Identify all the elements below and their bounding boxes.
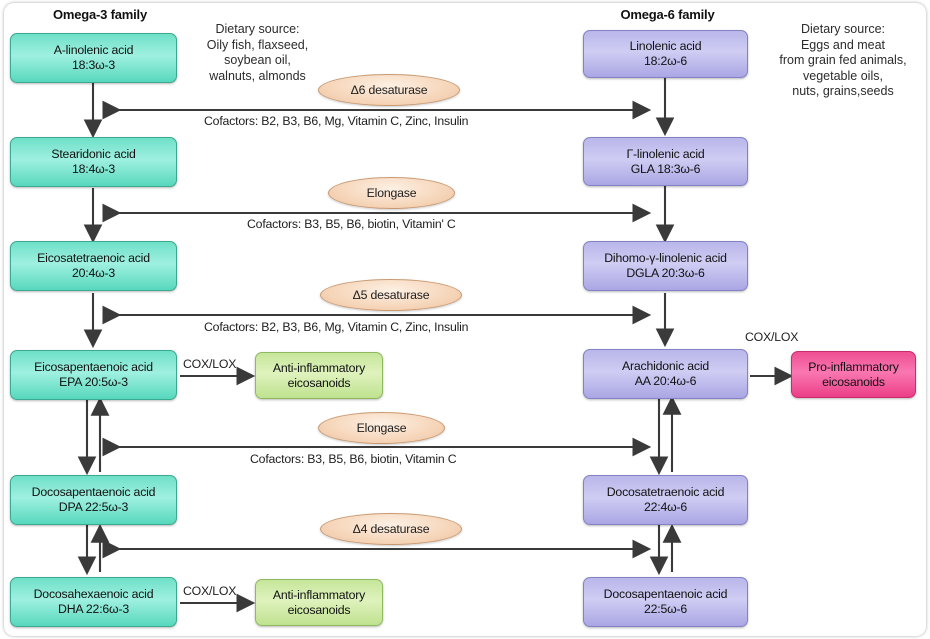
- node-line2: 22:4ω-6: [644, 500, 687, 515]
- omega3-dietary-source: Dietary source: Oily fish, flaxseed, soy…: [185, 22, 330, 84]
- node-line2: DGLA 20:3ω-6: [626, 266, 704, 281]
- node-line1: Arachidonic acid: [622, 359, 709, 374]
- node-line1: Docosapentaenoic acid: [604, 587, 728, 602]
- omega3-family-title: Omega-3 family: [10, 7, 190, 22]
- node-linolenic-acid[interactable]: Linolenic acid 18:2ω-6: [583, 30, 748, 78]
- node-line1: Anti-inflammatory: [273, 361, 365, 376]
- cox-lox-label-aa: COX/LOX: [745, 330, 798, 344]
- omega6-family-title: Omega-6 family: [580, 7, 755, 22]
- enzyme-delta5-desaturase[interactable]: Δ5 desaturase: [320, 279, 462, 311]
- enzyme-delta4-desaturase[interactable]: Δ4 desaturase: [320, 513, 462, 545]
- cofactors-row-1: Cofactors: B2, B3, B6, Mg, Vitamin C, Zi…: [204, 114, 468, 128]
- node-arachidonic-acid-aa[interactable]: Arachidonic acid AA 20:4ω-6: [583, 349, 748, 399]
- node-line2: DHA 22:6ω-3: [58, 602, 129, 617]
- node-line1: Eicosapentaenoic acid: [34, 360, 153, 375]
- cofactors-row-2: Cofactors: B3, B5, B6, biotin, Vitamin' …: [247, 217, 456, 231]
- node-line2: DPA 22:5ω-3: [59, 500, 128, 515]
- node-alpha-linolenic-acid[interactable]: A-linolenic acid 18:3ω-3: [10, 33, 177, 83]
- node-line2: eicosanoids: [288, 603, 351, 618]
- node-line2: eicosanoids: [288, 376, 351, 391]
- node-line1: Docosapentaenoic acid: [32, 485, 156, 500]
- node-line1: Anti-inflammatory: [273, 588, 365, 603]
- enzyme-elongase-1[interactable]: Elongase: [328, 177, 455, 209]
- node-pro-inflammatory-eicosanoids[interactable]: Pro-inflammatory eicosanoids: [791, 351, 916, 398]
- node-line1: A-linolenic acid: [54, 43, 134, 58]
- diagram-canvas: Omega-3 family Omega-6 family Dietary so…: [0, 0, 930, 639]
- node-line2: 22:5ω-6: [644, 602, 687, 617]
- omega6-dietary-source: Dietary source: Eggs and meat from grain…: [763, 22, 923, 100]
- node-stearidonic-acid[interactable]: Stearidonic acid 18:4ω-3: [10, 137, 177, 187]
- node-dihomo-gamma-linolenic-acid-dgla[interactable]: Dihomo-γ-linolenic acid DGLA 20:3ω-6: [583, 241, 748, 291]
- node-line2: AA 20:4ω-6: [635, 374, 697, 389]
- node-eicosatetraenoic-acid[interactable]: Eicosatetraenoic acid 20:4ω-3: [10, 241, 177, 291]
- node-line2: 18:2ω-6: [644, 54, 687, 69]
- node-docosatetraenoic-acid[interactable]: Docosatetraenoic acid 22:4ω-6: [583, 475, 748, 525]
- node-line2: 18:3ω-3: [72, 58, 115, 73]
- node-docosapentaenoic-acid-dpa[interactable]: Docosapentaenoic acid DPA 22:5ω-3: [10, 475, 177, 525]
- node-line1: Γ-linolenic acid: [626, 147, 704, 162]
- node-line2: 18:4ω-3: [72, 162, 115, 177]
- node-anti-inflammatory-eicosanoids-epa[interactable]: Anti-inflammatory eicosanoids: [255, 352, 383, 399]
- enzyme-elongase-2[interactable]: Elongase: [318, 412, 445, 444]
- cofactors-row-4: Cofactors: B3, B5, B6, biotin, Vitamin C: [250, 452, 456, 466]
- node-gamma-linolenic-acid-gla[interactable]: Γ-linolenic acid GLA 18:3ω-6: [583, 137, 748, 186]
- node-docosahexaenoic-acid-dha[interactable]: Docosahexaenoic acid DHA 22:6ω-3: [10, 577, 177, 627]
- node-line1: Pro-inflammatory: [808, 360, 898, 375]
- node-line2: EPA 20:5ω-3: [59, 375, 128, 390]
- node-line1: Linolenic acid: [630, 39, 702, 54]
- node-anti-inflammatory-eicosanoids-dha[interactable]: Anti-inflammatory eicosanoids: [255, 579, 383, 626]
- node-line1: Dihomo-γ-linolenic acid: [604, 251, 727, 266]
- node-line2: GLA 18:3ω-6: [631, 162, 701, 177]
- node-line2: eicosanoids: [822, 375, 885, 390]
- node-line1: Eicosatetraenoic acid: [37, 251, 150, 266]
- node-line1: Docosahexaenoic acid: [34, 587, 154, 602]
- node-docosapentaenoic-acid-omega6[interactable]: Docosapentaenoic acid 22:5ω-6: [583, 577, 748, 627]
- enzyme-delta6-desaturase[interactable]: Δ6 desaturase: [318, 74, 460, 106]
- node-line2: 20:4ω-3: [72, 266, 115, 281]
- node-eicosapentaenoic-acid-epa[interactable]: Eicosapentaenoic acid EPA 20:5ω-3: [10, 350, 177, 400]
- node-line1: Docosatetraenoic acid: [607, 485, 724, 500]
- cofactors-row-3: Cofactors: B2, B3, B6, Mg, Vitamin C, Zi…: [204, 320, 468, 334]
- node-line1: Stearidonic acid: [51, 147, 135, 162]
- cox-lox-label-epa: COX/LOX: [183, 357, 236, 371]
- cox-lox-label-dha: COX/LOX: [183, 584, 236, 598]
